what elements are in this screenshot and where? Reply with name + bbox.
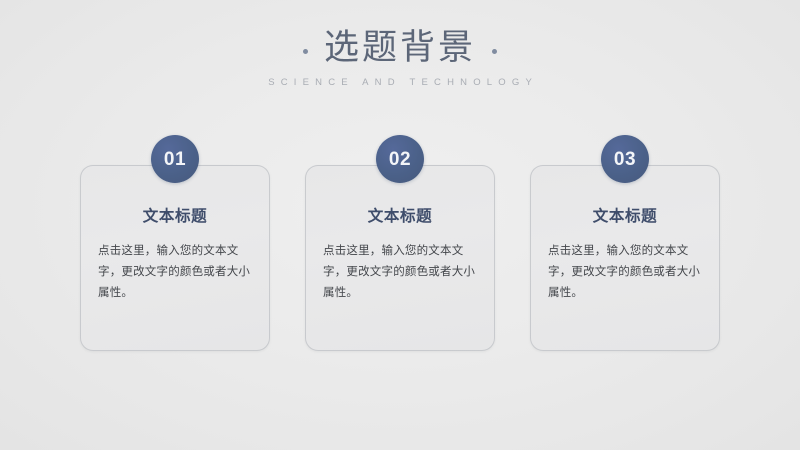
content-card-1[interactable]: 01 文本标题 点击这里，输入您的文本文字，更改文字的颜色或者大小属性。 bbox=[80, 165, 270, 351]
card-number-label: 03 bbox=[614, 150, 636, 169]
card-title-3: 文本标题 bbox=[531, 206, 719, 226]
card-title-2: 文本标题 bbox=[306, 206, 494, 226]
card-body-1: 点击这里，输入您的文本文字，更改文字的颜色或者大小属性。 bbox=[98, 240, 254, 303]
page-subtitle: SCIENCE AND TECHNOLOGY bbox=[0, 77, 800, 89]
title-row: 选题背景 bbox=[0, 26, 800, 70]
title-left-dot-icon bbox=[303, 49, 308, 54]
card-number-label: 02 bbox=[389, 150, 411, 169]
title-right-dot-icon bbox=[492, 49, 497, 54]
page-title: 选题背景 bbox=[324, 27, 476, 69]
card-number-badge-1: 01 bbox=[151, 135, 199, 183]
slide-canvas: 选题背景 SCIENCE AND TECHNOLOGY 01 文本标题 点击这里… bbox=[0, 0, 800, 450]
card-number-badge-2: 02 bbox=[376, 135, 424, 183]
card-number-label: 01 bbox=[164, 150, 186, 169]
card-row: 01 文本标题 点击这里，输入您的文本文字，更改文字的颜色或者大小属性。 02 … bbox=[80, 165, 720, 351]
content-card-3[interactable]: 03 文本标题 点击这里，输入您的文本文字，更改文字的颜色或者大小属性。 bbox=[530, 165, 720, 351]
card-title-1: 文本标题 bbox=[81, 206, 269, 226]
card-body-3: 点击这里，输入您的文本文字，更改文字的颜色或者大小属性。 bbox=[548, 240, 704, 303]
slide-header: 选题背景 SCIENCE AND TECHNOLOGY bbox=[0, 26, 800, 89]
card-body-2: 点击这里，输入您的文本文字，更改文字的颜色或者大小属性。 bbox=[323, 240, 479, 303]
card-number-badge-3: 03 bbox=[601, 135, 649, 183]
content-card-2[interactable]: 02 文本标题 点击这里，输入您的文本文字，更改文字的颜色或者大小属性。 bbox=[305, 165, 495, 351]
